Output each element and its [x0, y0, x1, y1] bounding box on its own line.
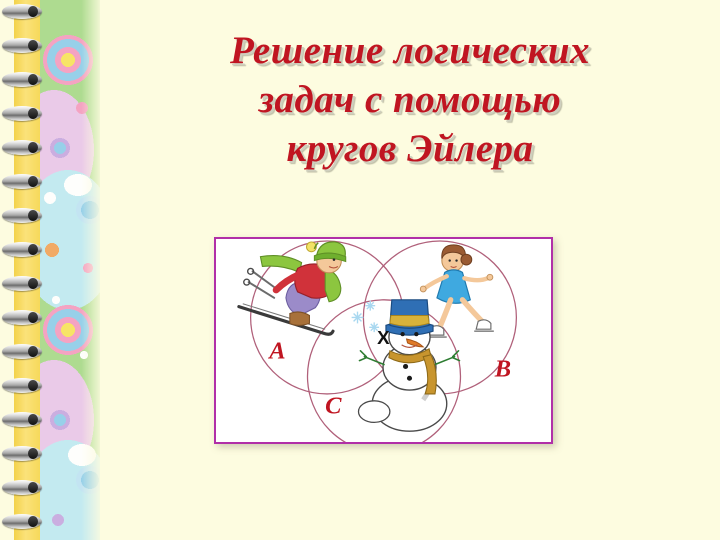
spiral-ring-icon	[2, 4, 42, 19]
spiral-ring-icon	[2, 412, 42, 427]
title-line-3: кругов Эйлера	[110, 124, 710, 173]
spiral-ring-icon	[2, 480, 42, 495]
spiral-ring-icon	[2, 242, 42, 257]
title-line-1: Решение логических	[110, 26, 710, 75]
spiral-ring-icon	[2, 344, 42, 359]
venn-diagram: A B C X	[216, 239, 551, 442]
spiral-ring-icon	[2, 174, 42, 189]
spiral-ring-icon	[2, 310, 42, 325]
venn-label-c: C	[325, 393, 342, 420]
slide-canvas: Решение логических задач с помощью круго…	[0, 0, 720, 540]
venn-label-a: A	[267, 338, 285, 365]
spiral-ring-icon	[2, 378, 42, 393]
spiral-ring-icon	[2, 106, 42, 121]
spiral-ring-icon	[2, 208, 42, 223]
euler-circles-figure: A B C X	[214, 237, 553, 444]
spiral-ring-icon	[2, 446, 42, 461]
spiral-ring-icon	[2, 72, 42, 87]
spiral-ring-icon	[2, 514, 42, 529]
title-line-2: задач с помощью	[110, 75, 710, 124]
spiral-ring-icon	[2, 140, 42, 155]
spiral-ring-icon	[2, 38, 42, 53]
venn-label-b: B	[494, 355, 511, 382]
venn-intersection-marker: X	[377, 327, 390, 348]
page-title: Решение логических задач с помощью круго…	[110, 26, 710, 173]
spiral-binding	[0, 0, 48, 540]
skier-icon	[239, 242, 346, 334]
spiral-ring-icon	[2, 276, 42, 291]
figure-skater-icon	[420, 245, 494, 337]
notebook-left-band	[0, 0, 100, 540]
